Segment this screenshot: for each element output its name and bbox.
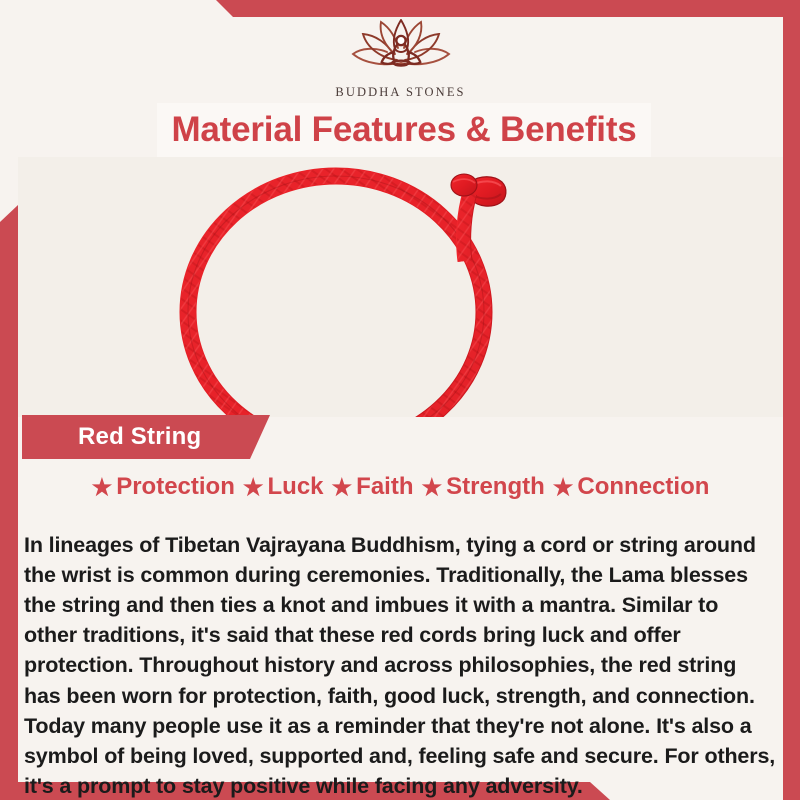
poster-canvas: BUDDHA STONES Material Features & Benefi… <box>0 0 800 800</box>
benefit-label: Strength <box>446 473 545 501</box>
decorative-bar-left <box>0 0 18 800</box>
material-label: Red String <box>78 423 201 451</box>
description-text: In lineages of Tibetan Vajrayana Buddhis… <box>24 530 776 800</box>
brand-header: BUDDHA STONES <box>18 17 783 97</box>
benefit-label: Faith <box>356 473 413 501</box>
title-banner: Material Features & Benefits <box>157 103 651 157</box>
benefit-item-protection: ★ Protection <box>88 473 239 501</box>
benefit-item-luck: ★ Luck <box>239 473 328 501</box>
material-label-banner: Red String <box>22 415 270 459</box>
benefits-list: ★ Protection ★ Luck ★ Faith ★ Strength ★… <box>18 466 783 508</box>
brand-logo: BUDDHA STONES <box>335 16 467 100</box>
benefit-label: Connection <box>577 473 709 501</box>
product-image <box>18 157 783 417</box>
page-title: Material Features & Benefits <box>171 110 636 150</box>
brand-name: BUDDHA STONES <box>335 85 465 100</box>
benefit-label: Luck <box>268 473 324 501</box>
decorative-bar-right <box>783 0 800 800</box>
red-braided-string-bracelet-illustration <box>18 157 783 417</box>
star-icon: ★ <box>243 476 264 499</box>
star-icon: ★ <box>92 476 113 499</box>
decorative-bar-top-right <box>0 0 800 17</box>
benefit-label: Protection <box>116 473 235 501</box>
benefit-item-strength: ★ Strength <box>417 473 548 501</box>
lotus-meditation-icon <box>335 16 467 83</box>
benefit-item-faith: ★ Faith <box>328 473 418 501</box>
benefit-item-connection: ★ Connection <box>549 473 714 501</box>
star-icon: ★ <box>421 476 442 499</box>
star-icon: ★ <box>332 476 353 499</box>
star-icon: ★ <box>553 476 574 499</box>
